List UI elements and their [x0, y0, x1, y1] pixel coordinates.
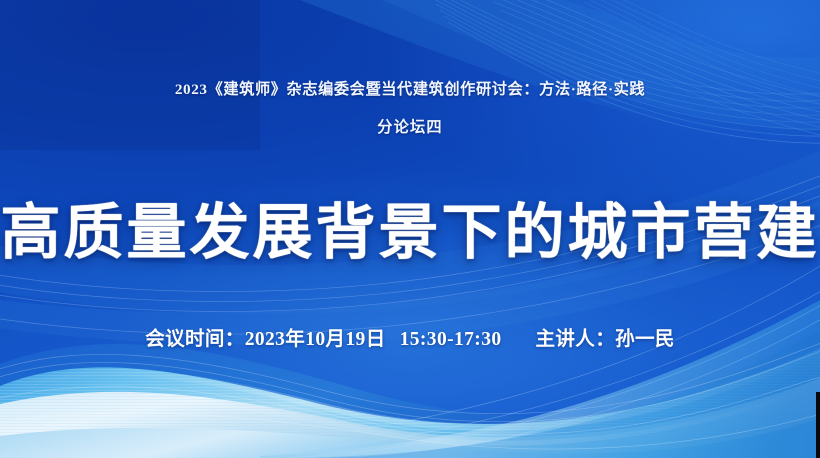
poster-content: 2023《建筑师》杂志编委会暨当代建筑创作研讨会：方法·路径·实践 分论坛四 高… — [0, 0, 820, 458]
speaker-label: 主讲人： — [536, 329, 616, 350]
speaker-name: 孙一民 — [615, 329, 675, 350]
event-details-bar: 会议时间：2023年10月19日15:30-17:30主讲人：孙一民 — [0, 322, 820, 351]
meeting-date: 2023年10月19日 — [245, 329, 386, 350]
meeting-time-range: 15:30-17:30 — [400, 329, 502, 350]
event-series-title: 2023《建筑师》杂志编委会暨当代建筑创作研讨会：方法·路径·实践 — [0, 82, 820, 98]
meeting-time-label: 会议时间： — [145, 329, 245, 350]
right-edge-strip — [816, 392, 820, 458]
forum-session-label: 分论坛四 — [0, 115, 820, 137]
conference-poster: 2023《建筑师》杂志编委会暨当代建筑创作研讨会：方法·路径·实践 分论坛四 高… — [0, 0, 820, 458]
page-title: 高质量发展背景下的城市营建 — [0, 200, 820, 267]
